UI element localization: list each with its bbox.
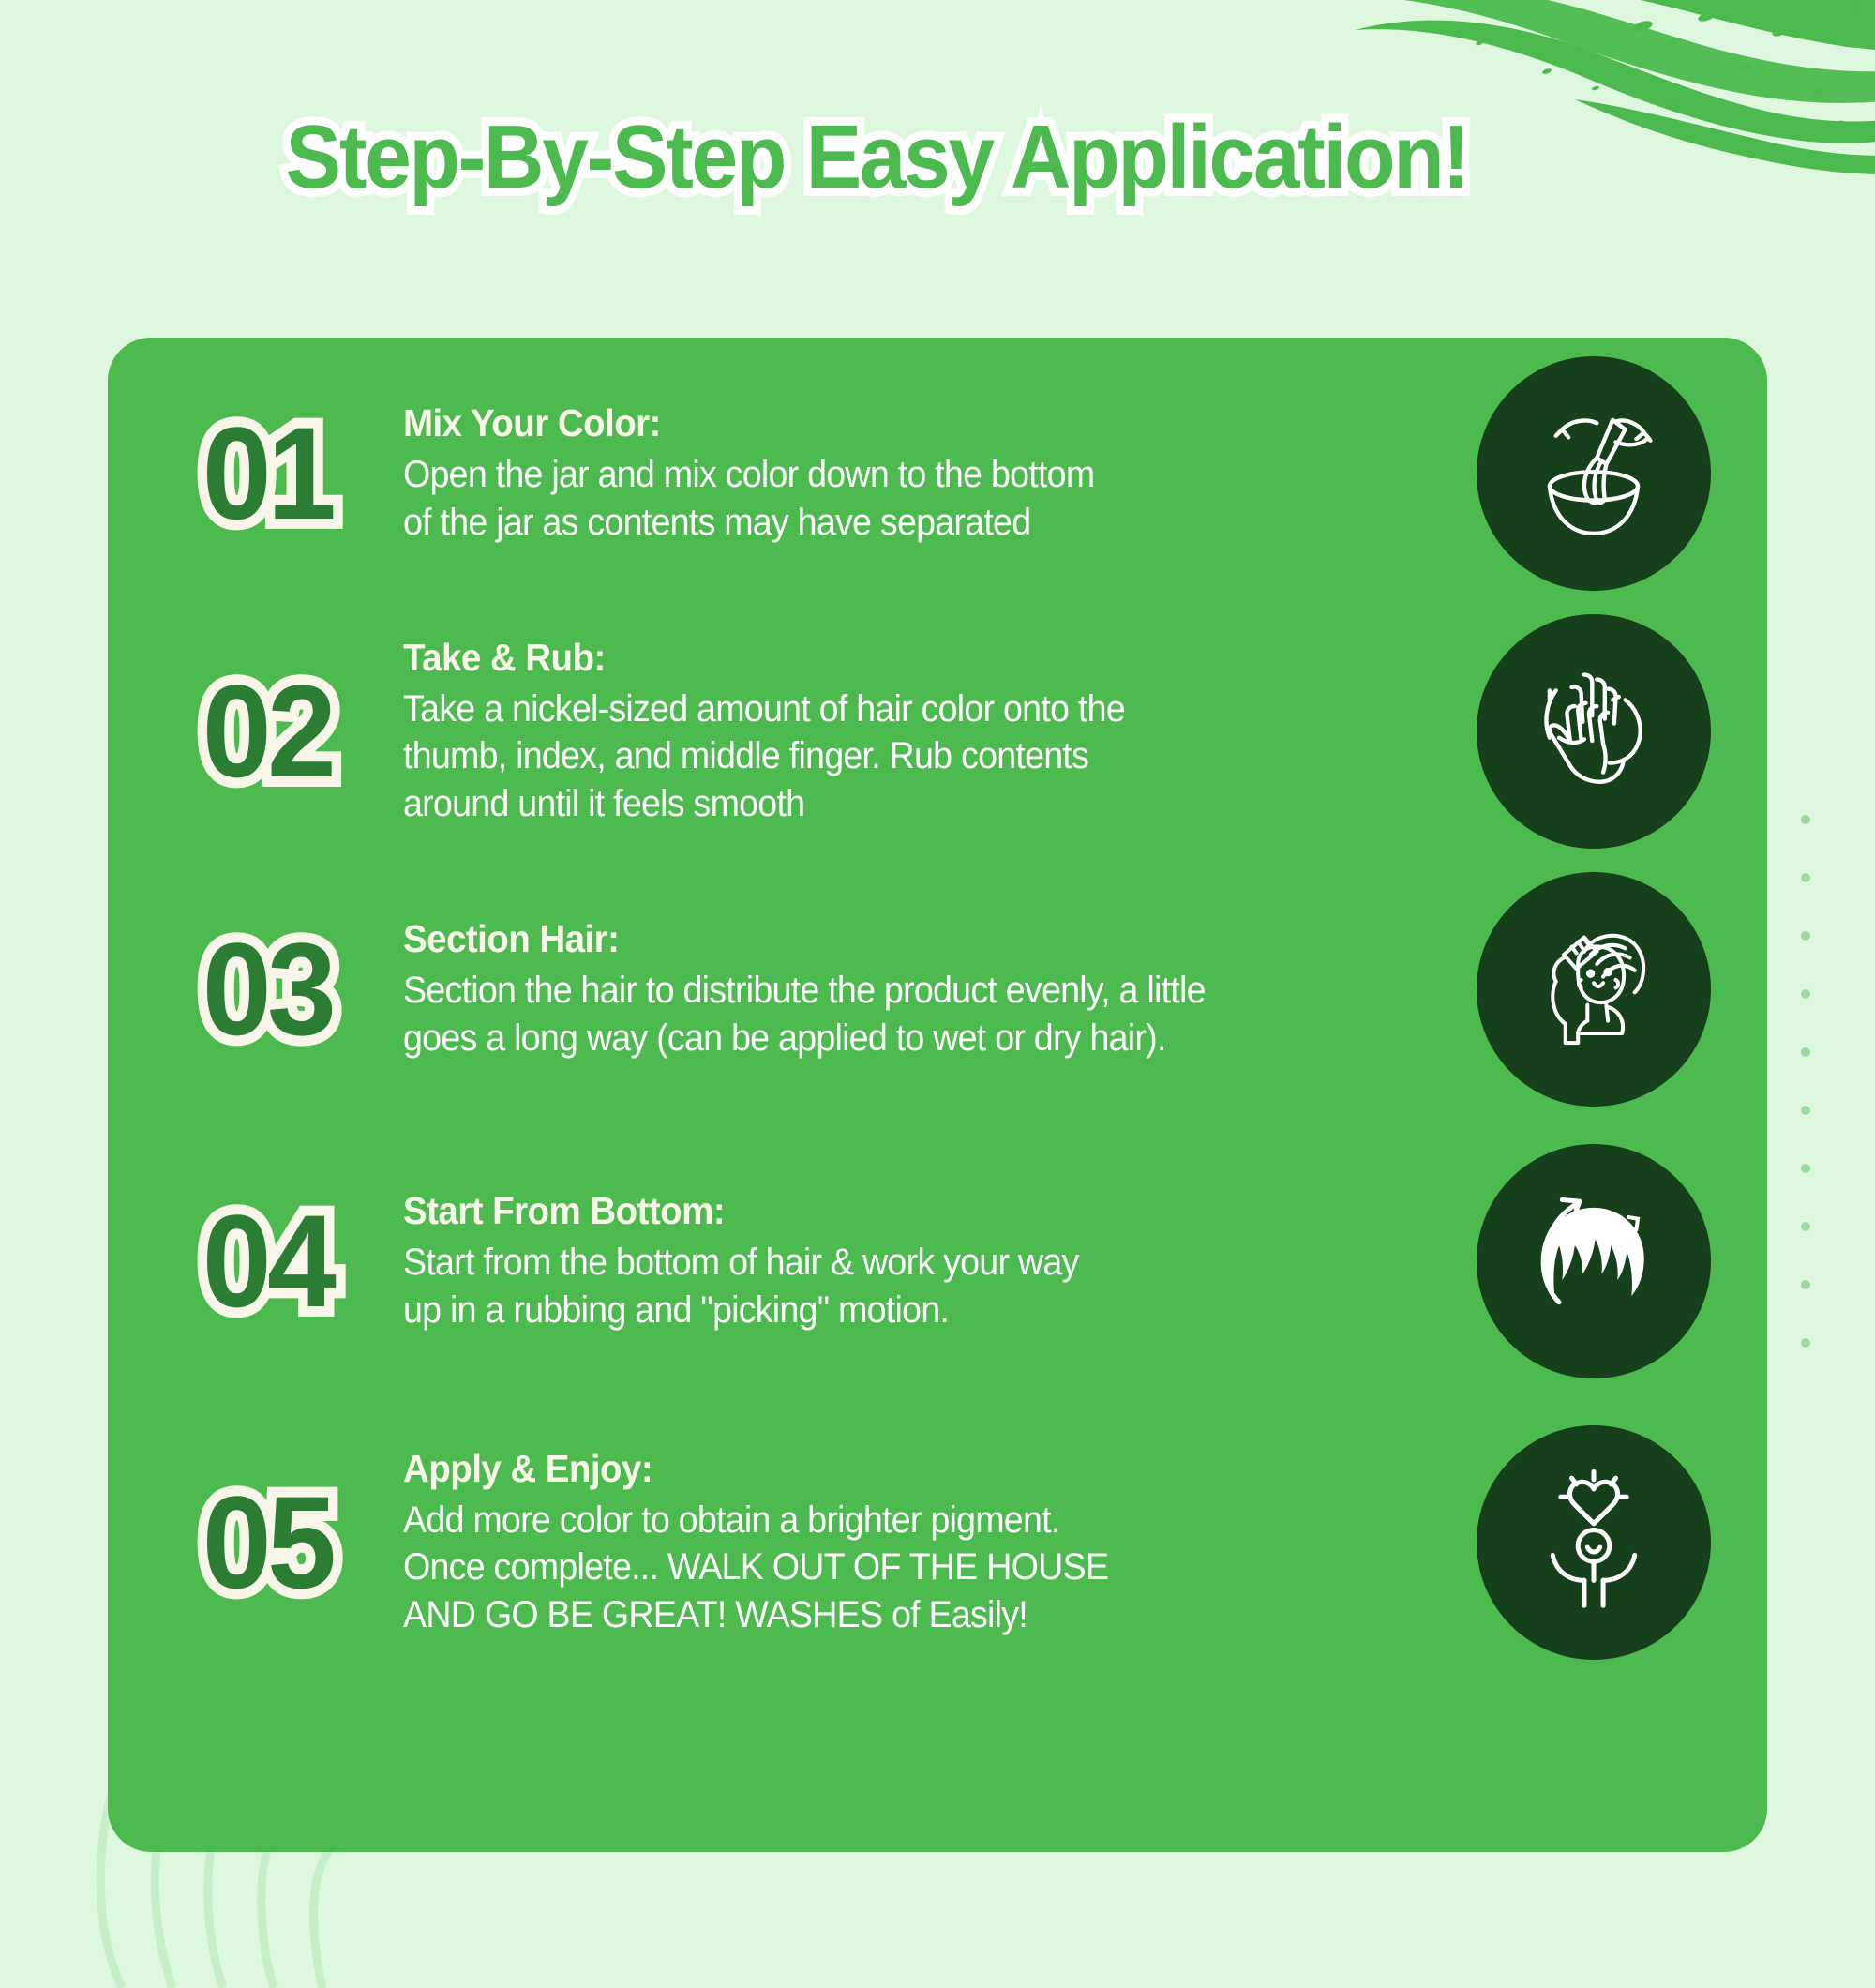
step-text-block: Section Hair: Section the hair to distri…: [384, 917, 1477, 1062]
step-icon-circle: [1477, 1425, 1711, 1660]
step-number-badge: 04: [156, 1196, 379, 1327]
step-body: Start from the bottom of hair & work you…: [403, 1239, 1386, 1333]
step-number-badge: 02: [156, 666, 379, 797]
step-row: 02 Take & Rub: Take a nickel-sized amoun…: [150, 610, 1711, 853]
step-heading: Apply & Enjoy:: [403, 1447, 1386, 1491]
step-heading: Mix Your Color:: [403, 401, 1386, 445]
step-heading: Section Hair:: [403, 917, 1386, 961]
step-number-badge: 01: [156, 408, 379, 539]
step-icon-circle: [1477, 872, 1711, 1107]
combing-hair-person-icon: [1515, 911, 1672, 1068]
step-text-block: Take & Rub: Take a nickel-sized amount o…: [384, 636, 1477, 827]
step-body: Section the hair to distribute the produ…: [403, 967, 1386, 1062]
step-row: 05 Apply & Enjoy: Add more color to obta…: [150, 1416, 1711, 1669]
step-row: 04 Start From Bottom: Start from the bot…: [150, 1153, 1711, 1369]
mixing-bowl-whisk-icon: [1515, 395, 1672, 552]
step-heading: Start From Bottom:: [403, 1189, 1386, 1233]
step-heading: Take & Rub:: [403, 636, 1386, 680]
step-icon-circle: [1477, 1144, 1711, 1378]
happy-person-heart-icon: [1515, 1464, 1672, 1621]
step-text-block: Apply & Enjoy: Add more color to obtain …: [384, 1447, 1477, 1638]
step-icon-circle: [1477, 614, 1711, 849]
step-body: Take a nickel-sized amount of hair color…: [403, 685, 1386, 827]
steps-card: 01 Mix Your Color: Open the jar and mix …: [108, 338, 1767, 1852]
rubbing-hands-icon: [1515, 653, 1672, 810]
step-text-block: Start From Bottom: Start from the bottom…: [384, 1189, 1477, 1333]
step-number-badge: 03: [156, 924, 379, 1055]
step-row: 03 Section Hair: Section the hair to dis…: [150, 881, 1711, 1097]
step-text-block: Mix Your Color: Open the jar and mix col…: [384, 401, 1477, 546]
hair-upward-arrow-icon: [1515, 1182, 1672, 1340]
step-row: 01 Mix Your Color: Open the jar and mix …: [150, 366, 1711, 581]
page-title-container: Step-By-Step Easy Application!: [0, 111, 1753, 204]
step-body: Add more color to obtain a brighter pigm…: [403, 1497, 1386, 1638]
step-number-badge: 05: [156, 1477, 379, 1608]
step-body: Open the jar and mix color down to the b…: [403, 451, 1386, 546]
step-icon-circle: [1477, 356, 1711, 591]
page-title: Step-By-Step Easy Application!: [285, 111, 1467, 204]
